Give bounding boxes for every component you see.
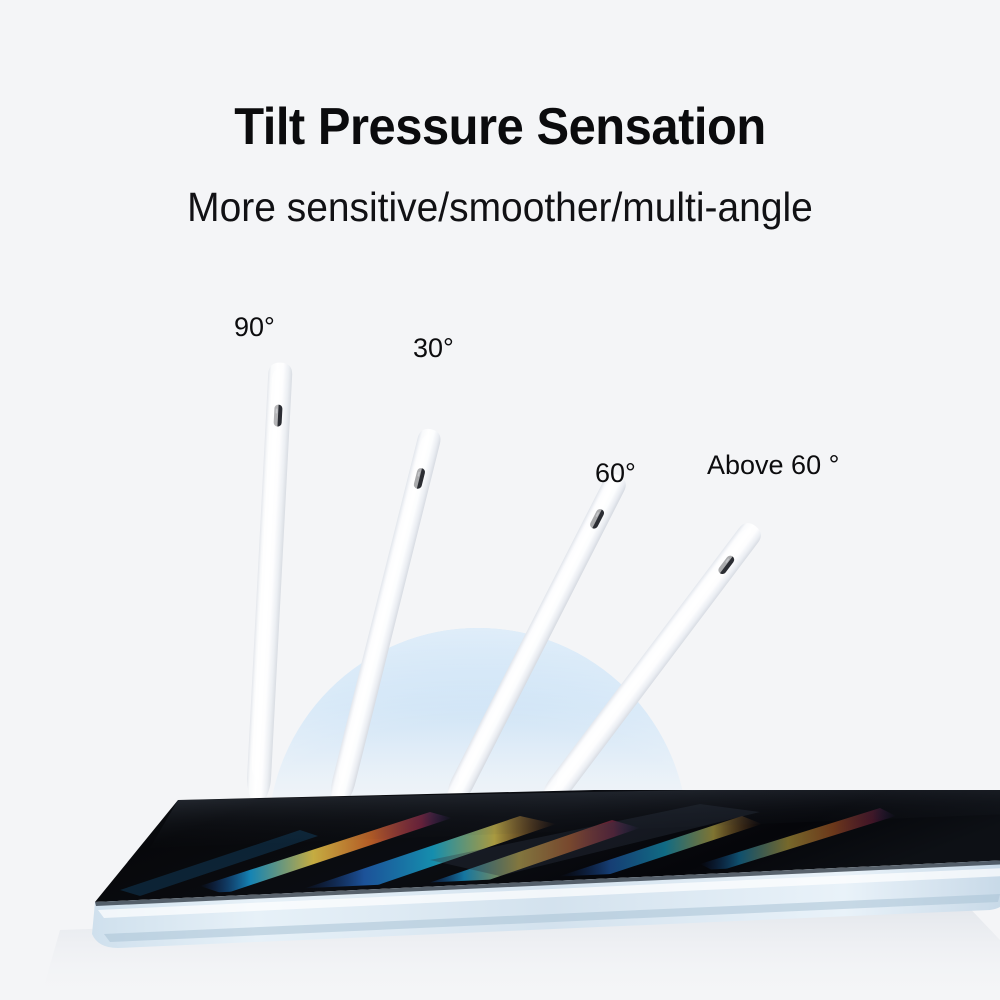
stylus-body xyxy=(242,360,295,837)
angle-label-60: 60° xyxy=(595,458,636,489)
stylus-body xyxy=(317,424,445,838)
bezel-gap-line xyxy=(95,860,1000,906)
page-title: Tilt Pressure Sensation xyxy=(30,97,970,157)
tablet-bezel xyxy=(92,860,1000,948)
stylus-pen-90 xyxy=(242,360,295,837)
tablet-shadow xyxy=(40,898,1000,1000)
stylus-body xyxy=(425,468,632,838)
stylus-pen-above-60 xyxy=(517,516,768,836)
angle-label-30: 30° xyxy=(413,333,454,364)
stylus-pen-60 xyxy=(425,468,632,838)
stylus-body xyxy=(517,516,768,836)
product-hero-image: 90° 30° 60° Above 60 ° Tilt Pressure Sen… xyxy=(0,0,1000,1000)
bezel-shade xyxy=(104,894,1000,942)
page-subtitle: More sensitive/smoother/multi-angle xyxy=(25,184,975,231)
tablet-device xyxy=(0,790,1000,1000)
bezel-highlight xyxy=(98,868,1000,918)
angle-label-above-60: Above 60 ° xyxy=(707,450,839,481)
angle-label-90: 90° xyxy=(234,312,275,343)
stylus-pen-30 xyxy=(317,424,445,838)
